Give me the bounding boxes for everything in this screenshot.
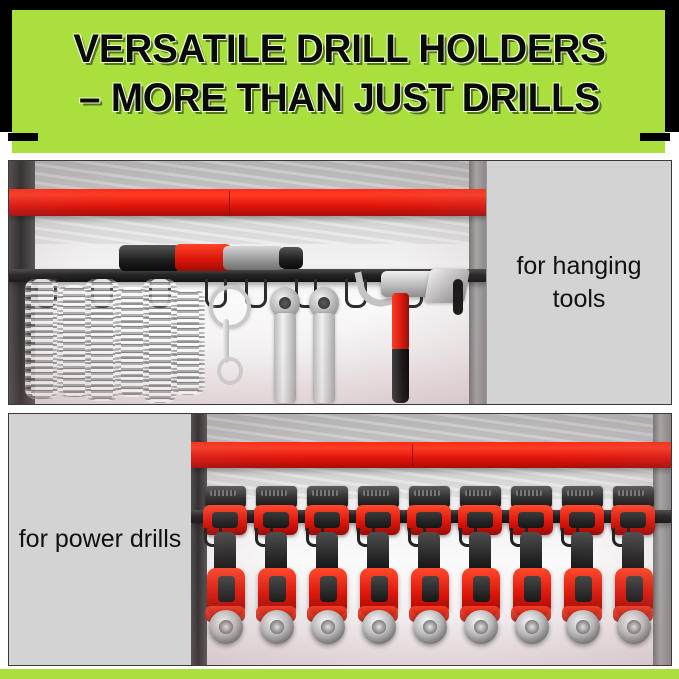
drill-chuck bbox=[617, 610, 651, 644]
header-dash-left-icon bbox=[8, 133, 38, 141]
power-tool-nose bbox=[279, 247, 303, 269]
hanging-drill bbox=[305, 486, 349, 656]
ratchet-strap bbox=[313, 313, 335, 403]
header-green-background bbox=[12, 10, 665, 153]
hammer-handle-red bbox=[392, 293, 409, 351]
caption-power-drills: for power drills bbox=[9, 414, 192, 665]
hanging-drill bbox=[356, 486, 400, 656]
drill-chuck bbox=[566, 610, 600, 644]
drill-chuck bbox=[515, 610, 549, 644]
hanging-chain bbox=[25, 279, 59, 399]
photo-hanging-tools bbox=[9, 161, 487, 404]
wrench-tool bbox=[424, 269, 470, 303]
header-dash-right-icon bbox=[640, 133, 670, 141]
hanging-drill bbox=[458, 486, 502, 656]
header-banner: VERSATILE DRILL HOLDERS – MORE THAN JUST… bbox=[0, 0, 679, 158]
drill-chuck bbox=[362, 610, 396, 644]
header-border-right bbox=[665, 0, 679, 132]
hanging-drill bbox=[407, 486, 451, 656]
hanging-drill bbox=[560, 486, 604, 656]
caption-hanging-tools: for hanging tools bbox=[486, 161, 671, 404]
drill-chuck bbox=[209, 610, 243, 644]
footer-green-strip bbox=[0, 669, 679, 679]
drill-chuck bbox=[311, 610, 345, 644]
red-beam bbox=[191, 442, 671, 468]
infographic-root: VERSATILE DRILL HOLDERS – MORE THAN JUST… bbox=[0, 0, 679, 679]
power-tool-steel-barrel bbox=[223, 246, 283, 270]
hanging-drill bbox=[611, 486, 655, 656]
red-beam bbox=[9, 189, 487, 216]
hanging-drill bbox=[203, 486, 247, 656]
hanging-ring bbox=[209, 285, 251, 329]
tool-cable bbox=[453, 279, 463, 315]
hanging-chain bbox=[85, 279, 119, 401]
panel-hanging-tools: for hanging tools bbox=[8, 160, 672, 405]
drill-chuck bbox=[413, 610, 447, 644]
drill-chuck bbox=[260, 610, 294, 644]
drill-chuck bbox=[464, 610, 498, 644]
hanging-chain bbox=[171, 289, 205, 395]
hanging-drill bbox=[509, 486, 553, 656]
panel-power-drills: for power drills bbox=[8, 413, 672, 666]
hanging-drill bbox=[254, 486, 298, 656]
power-tool-body bbox=[119, 245, 181, 271]
hammer-handle-grip bbox=[392, 349, 409, 403]
photo-power-drills bbox=[191, 414, 671, 665]
ring-sling-eye bbox=[217, 357, 243, 385]
ratchet-strap bbox=[274, 313, 296, 403]
